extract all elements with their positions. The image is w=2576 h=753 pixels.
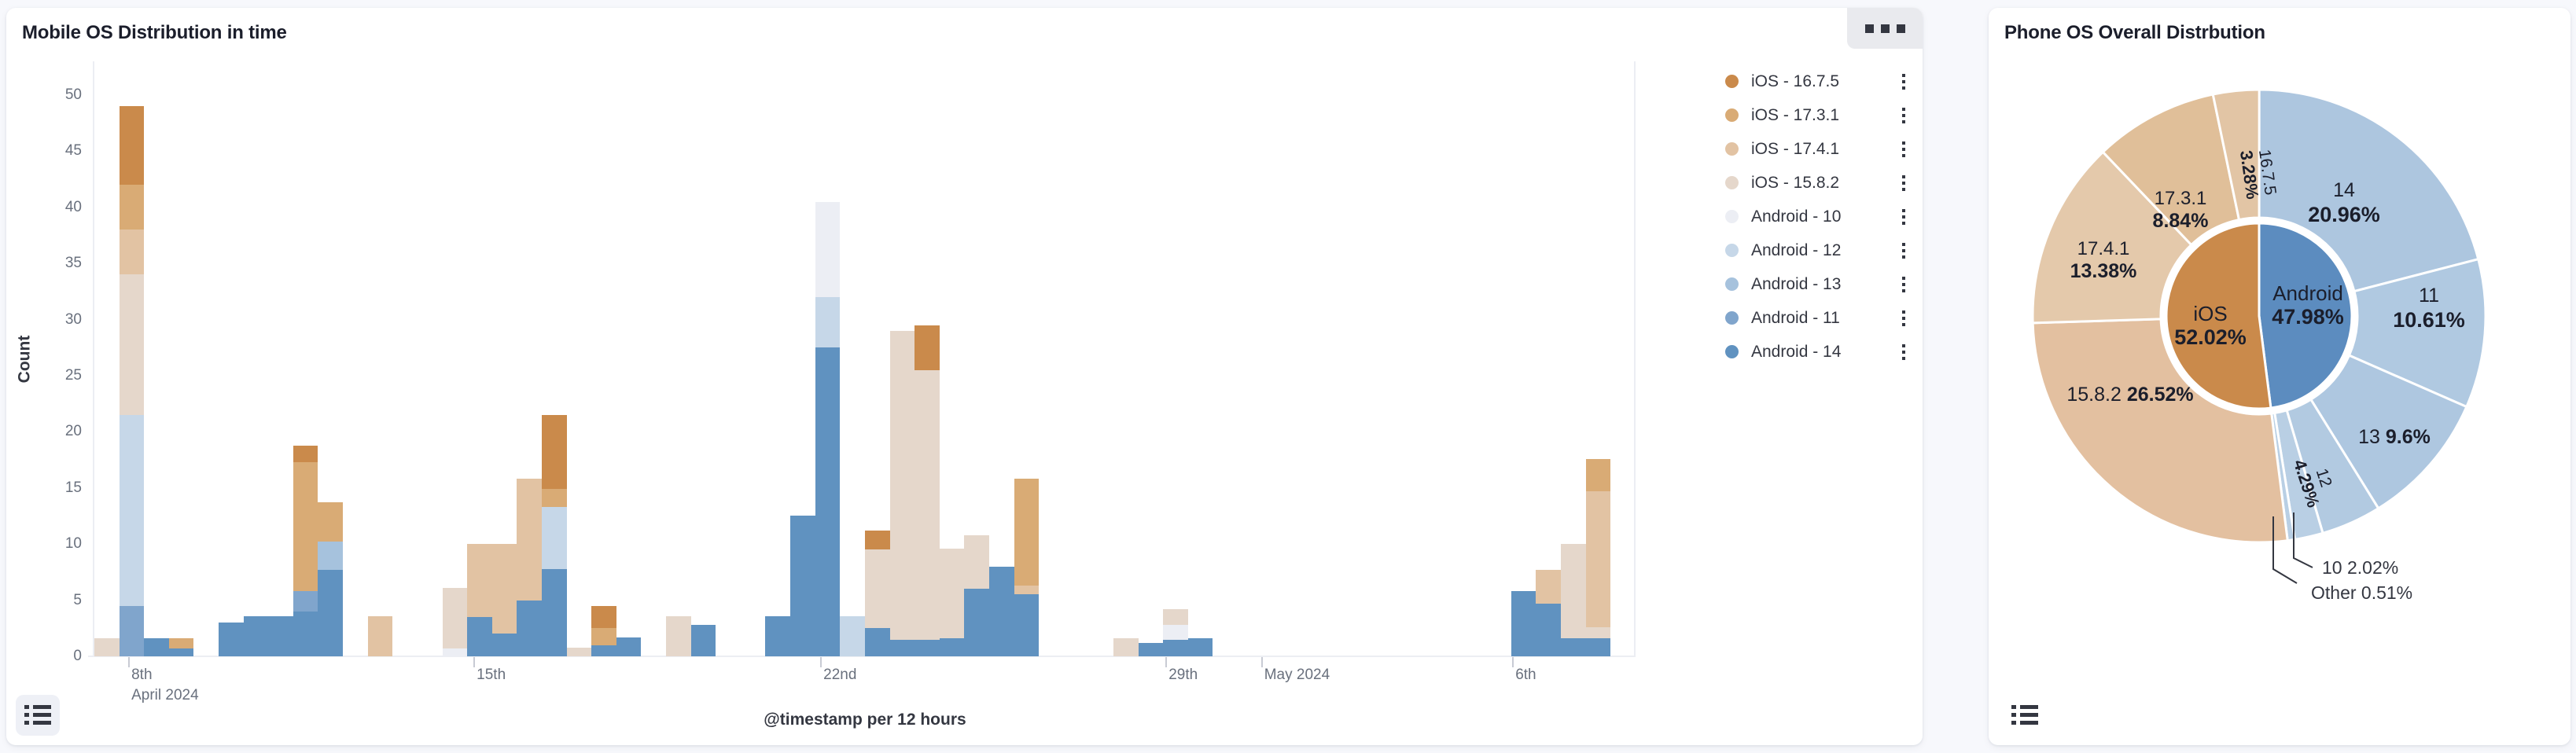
list-icon [24, 705, 51, 725]
stacked-bar[interactable] [1511, 591, 1536, 656]
bar-segment[interactable] [591, 645, 616, 656]
tick-mark [473, 657, 475, 667]
bar-segment[interactable] [591, 606, 616, 629]
svg-text:47.98%: 47.98% [2272, 305, 2344, 329]
bar-segment[interactable] [1536, 570, 1561, 604]
page-title: Phone OS Overall Distrbution [2004, 22, 2265, 44]
stacked-bar[interactable] [666, 616, 691, 656]
legend-toggle-button[interactable] [2003, 695, 2047, 736]
svg-text:13 9.6%: 13 9.6% [2358, 426, 2431, 448]
bar-slot[interactable] [443, 61, 468, 656]
bar-slot[interactable] [1287, 61, 1312, 656]
y-axis-tick: 40 [65, 199, 82, 216]
bar-segment[interactable] [517, 479, 542, 600]
bar-segment[interactable] [120, 230, 145, 274]
tick-mark [1165, 657, 1167, 667]
bar-segment[interactable] [914, 325, 940, 370]
legend-toggle-button[interactable] [16, 695, 60, 736]
callout-label-10: 10 2.02% [2322, 557, 2398, 578]
legend-item-android-10[interactable]: Android - 10 [1725, 200, 1914, 233]
bar-segment[interactable] [517, 601, 542, 656]
list-icon [2011, 705, 2038, 725]
legend-item-android-11[interactable]: Android - 11 [1725, 301, 1914, 335]
bar-segment[interactable] [169, 648, 194, 656]
bar-segment[interactable] [1163, 625, 1188, 640]
legend-color-dot [1725, 345, 1739, 358]
y-axis-tick: 35 [65, 255, 82, 272]
bar-segment[interactable] [1188, 638, 1213, 656]
legend-item-label: Android - 11 [1751, 309, 1840, 328]
bar-segment[interactable] [1536, 604, 1561, 656]
bar-segment[interactable] [120, 185, 145, 230]
stacked-bar[interactable] [1586, 459, 1611, 656]
bar-slot[interactable] [989, 61, 1014, 656]
bar-segment[interactable] [940, 638, 965, 656]
legend-item-label: Android - 14 [1751, 343, 1841, 362]
svg-text:14: 14 [2333, 179, 2355, 201]
legend-item-actions-icon[interactable] [1902, 241, 1909, 260]
bar-segment[interactable] [219, 623, 244, 656]
stacked-bar[interactable] [914, 325, 940, 656]
dot [1897, 24, 1905, 33]
bar-segment[interactable] [293, 591, 318, 612]
sunburst-chart[interactable]: iOS52.02%Android47.98%17.3.18.84%17.4.11… [1989, 49, 2570, 725]
bar-segment[interactable] [1139, 643, 1164, 656]
bar-segment[interactable] [890, 331, 915, 640]
page-title: Mobile OS Distribution in time [22, 22, 287, 44]
legend-item-actions-icon[interactable] [1902, 309, 1909, 328]
bar-segment[interactable] [1014, 594, 1040, 656]
outer-label-17-3-1: 17.3.18.84% [2153, 188, 2209, 232]
x-axis-tick-label: 29th [1168, 667, 1198, 684]
y-axis-tick: 45 [65, 142, 82, 160]
stacked-bar[interactable] [517, 479, 542, 656]
bar-slot[interactable] [1462, 61, 1487, 656]
bar-slot[interactable] [1536, 61, 1561, 656]
legend-color-dot [1725, 210, 1739, 223]
bar-segment[interactable] [268, 616, 293, 656]
legend-item-android-12[interactable]: Android - 12 [1725, 233, 1914, 267]
bar-segment[interactable] [865, 531, 890, 549]
y-axis-tick: 30 [65, 311, 82, 329]
bar-slot[interactable] [392, 61, 418, 656]
panel-phone-os-overall: Phone OS Overall Distrbution iOS52.02%An… [1989, 8, 2570, 745]
stacked-bar[interactable] [890, 331, 915, 656]
bar-slot[interactable] [641, 61, 666, 656]
bar-segment[interactable] [144, 638, 169, 656]
svg-text:Android: Android [2272, 281, 2343, 305]
stacked-bar[interactable] [169, 638, 194, 656]
svg-text:Other 0.51%: Other 0.51% [2311, 582, 2412, 603]
x-axis-tick-label: 6th [1515, 667, 1536, 684]
bar-segment[interactable] [1163, 640, 1188, 656]
bar-slot[interactable] [144, 61, 169, 656]
bar-segment[interactable] [1014, 479, 1040, 586]
svg-text:10 2.02%: 10 2.02% [2322, 557, 2398, 578]
bar-slot[interactable] [790, 61, 815, 656]
bar-segment[interactable] [94, 638, 120, 656]
bar-segment[interactable] [815, 202, 841, 297]
x-axis-tick-label: 15th [477, 667, 506, 684]
bar-slot[interactable] [567, 61, 592, 656]
bar-segment[interactable] [616, 637, 642, 656]
bar-segment[interactable] [1511, 591, 1536, 656]
bar-segment[interactable] [467, 544, 492, 617]
bar-segment[interactable] [120, 106, 145, 185]
bar-slot[interactable] [1511, 61, 1536, 656]
bar-slot[interactable] [840, 61, 865, 656]
bar-segment[interactable] [492, 544, 517, 634]
bar-segment[interactable] [815, 347, 841, 656]
tick-mark [1512, 657, 1514, 667]
bar-slot[interactable] [368, 61, 393, 656]
bar-slot[interactable] [914, 61, 940, 656]
bar-slot[interactable] [293, 61, 318, 656]
tick-mark [1261, 657, 1263, 667]
bar-segment[interactable] [691, 625, 716, 656]
stacked-bar[interactable] [467, 544, 492, 656]
svg-text:15.8.2 26.52%: 15.8.2 26.52% [2066, 384, 2193, 406]
bar-slot[interactable] [716, 61, 741, 656]
legend-item-label: Android - 13 [1751, 275, 1841, 294]
legend-item-actions-icon[interactable] [1902, 343, 1909, 362]
legend-item-actions-icon[interactable] [1902, 72, 1909, 91]
bar-segment[interactable] [914, 640, 940, 656]
bar-segment[interactable] [120, 415, 145, 606]
sunburst-svg[interactable]: iOS52.02%Android47.98%17.3.18.84%17.4.11… [1989, 49, 2570, 725]
bar-segment[interactable] [318, 570, 343, 656]
legend-item-label: Android - 12 [1751, 241, 1841, 260]
bar-segment[interactable] [244, 616, 269, 656]
bar-slot[interactable] [1586, 61, 1611, 656]
bar-slot[interactable] [418, 61, 443, 656]
tick-mark [128, 657, 130, 667]
chart-legend[interactable]: iOS - 16.7.5iOS - 17.3.1iOS - 17.4.1iOS … [1725, 64, 1914, 369]
stacked-bar[interactable] [1113, 638, 1139, 656]
legend-item-label: iOS - 17.3.1 [1751, 106, 1839, 125]
svg-text:17.3.1: 17.3.1 [2155, 188, 2207, 209]
bar-slot[interactable] [1486, 61, 1511, 656]
bar-segment[interactable] [443, 648, 468, 656]
legend-item-actions-icon[interactable] [1902, 208, 1909, 226]
stacked-bar[interactable] [268, 616, 293, 656]
bar-slot[interactable] [1064, 61, 1089, 656]
x-axis-title: @timestamp per 12 hours [94, 711, 1636, 729]
bar-slot[interactable] [1188, 61, 1213, 656]
stacked-bar[interactable] [542, 415, 567, 656]
legend-color-dot [1725, 311, 1739, 325]
bar-segment[interactable] [542, 569, 567, 656]
y-axis-tick: 0 [73, 648, 82, 665]
dot [1881, 24, 1890, 33]
svg-text:10.61%: 10.61% [2393, 308, 2465, 332]
svg-text:20.96%: 20.96% [2308, 203, 2380, 226]
bar-slot[interactable] [343, 61, 368, 656]
bar-slot[interactable] [1610, 61, 1636, 656]
bar-slot[interactable] [1387, 61, 1412, 656]
stacked-bar[interactable] [790, 516, 815, 656]
three-dots-icon[interactable] [1847, 8, 1923, 49]
legend-color-dot [1725, 142, 1739, 156]
bar-slot[interactable] [666, 61, 691, 656]
legend-color-dot [1725, 176, 1739, 189]
bar-slot[interactable] [1362, 61, 1387, 656]
svg-text:11: 11 [2419, 285, 2439, 307]
bar-slot[interactable] [120, 61, 145, 656]
stacked-bar[interactable] [989, 567, 1014, 656]
bar-chart-plot-area[interactable] [94, 61, 1636, 656]
stacked-bar[interactable] [219, 623, 244, 656]
bar-segment[interactable] [293, 446, 318, 462]
outer-label-13: 13 9.6% [2358, 426, 2431, 448]
svg-text:iOS: iOS [2193, 302, 2227, 325]
bar-slot[interactable] [940, 61, 965, 656]
y-axis-tick: 25 [65, 367, 82, 384]
inner-label-android: Android47.98% [2272, 281, 2344, 329]
bar-segment[interactable] [318, 542, 343, 570]
stacked-bar[interactable] [144, 638, 169, 656]
bar-slot[interactable] [94, 61, 120, 656]
bar-segment[interactable] [1113, 638, 1139, 656]
bar-segment[interactable] [790, 516, 815, 656]
bar-slot[interactable] [318, 61, 343, 656]
bar-segment[interactable] [765, 616, 790, 656]
legend-item-actions-icon[interactable] [1902, 140, 1909, 159]
y-axis-tick: 20 [65, 423, 82, 440]
stacked-bar[interactable] [691, 625, 716, 656]
bar-segment[interactable] [1586, 627, 1611, 638]
bar-segment[interactable] [815, 297, 841, 347]
bar-segment[interactable] [1561, 544, 1586, 638]
bar-slot[interactable] [1039, 61, 1064, 656]
y-axis-tick: 5 [73, 592, 82, 609]
stacked-bar[interactable] [293, 446, 318, 657]
stacked-bar[interactable] [964, 535, 989, 656]
outer-label-16-7-5: 16.7.53.28% [2236, 147, 2280, 200]
bar-segment[interactable] [591, 628, 616, 645]
bar-slot[interactable] [268, 61, 293, 656]
bar-segment[interactable] [542, 507, 567, 569]
stacked-bar[interactable] [1163, 609, 1188, 656]
stacked-bar[interactable] [1561, 544, 1586, 656]
legend-item-label: iOS - 15.8.2 [1751, 174, 1839, 193]
svg-text:13.38%: 13.38% [2070, 260, 2137, 282]
bar-segment[interactable] [542, 489, 567, 507]
stacked-bar[interactable] [1188, 638, 1213, 656]
bar-segment[interactable] [1163, 609, 1188, 625]
bar-segment[interactable] [467, 617, 492, 656]
bar-slot[interactable] [1238, 61, 1263, 656]
stacked-bar[interactable] [865, 531, 890, 656]
stacked-bar[interactable] [120, 106, 145, 656]
bar-slot[interactable] [517, 61, 542, 656]
bar-segment[interactable] [890, 640, 915, 656]
dot [1865, 24, 1874, 33]
svg-text:17.4.1: 17.4.1 [2077, 238, 2130, 259]
stacked-bar[interactable] [443, 588, 468, 656]
x-axis-tick-label: 22nd [823, 667, 856, 684]
stacked-bar[interactable] [940, 549, 965, 656]
bar-segment[interactable] [840, 616, 865, 656]
bar-segment[interactable] [120, 606, 145, 656]
bar-segment[interactable] [914, 370, 940, 640]
bar-slot[interactable] [219, 61, 244, 656]
y-axis: 05101520253035404550 [6, 61, 91, 656]
stacked-bar[interactable] [368, 616, 393, 656]
legend-item-actions-icon[interactable] [1902, 275, 1909, 294]
outer-label-17-4-1: 17.4.113.38% [2070, 238, 2137, 282]
stacked-bar[interactable] [591, 606, 616, 656]
bar-segment[interactable] [1586, 459, 1611, 491]
bar-slot[interactable] [1014, 61, 1040, 656]
bar-slot[interactable] [169, 61, 194, 656]
bar-slot[interactable] [1263, 61, 1288, 656]
bar-segment[interactable] [666, 616, 691, 656]
stacked-bar[interactable] [765, 616, 790, 656]
bar-segment[interactable] [492, 634, 517, 656]
bar-slot[interactable] [467, 61, 492, 656]
legend-item-actions-icon[interactable] [1902, 174, 1909, 193]
bar-segment[interactable] [368, 616, 393, 656]
bar-segment[interactable] [989, 567, 1014, 656]
x-axis-tick-label: 8th [131, 667, 152, 684]
stacked-bar[interactable] [244, 616, 269, 656]
legend-item-ios-17-3-1[interactable]: iOS - 17.3.1 [1725, 98, 1914, 132]
bar-slot[interactable] [1411, 61, 1437, 656]
legend-item-android-13[interactable]: Android - 13 [1725, 267, 1914, 301]
callout-label-other: Other 0.51% [2311, 582, 2412, 603]
legend-color-dot [1725, 277, 1739, 291]
legend-item-ios-17-4-1[interactable]: iOS - 17.4.1 [1725, 132, 1914, 166]
panel-mobile-os-distribution: Mobile OS Distribution in time Count 051… [6, 8, 1923, 745]
bar-slot[interactable] [1213, 61, 1238, 656]
bar-slot[interactable] [1437, 61, 1462, 656]
bar-segment[interactable] [964, 589, 989, 656]
bar-slot[interactable] [1337, 61, 1362, 656]
svg-text:8.84%: 8.84% [2153, 210, 2209, 232]
bar-slot[interactable] [691, 61, 716, 656]
bar-segment[interactable] [120, 274, 145, 415]
legend-color-dot [1725, 75, 1739, 88]
stacked-bar[interactable] [1536, 570, 1561, 656]
bar-segment[interactable] [293, 612, 318, 656]
bar-segment[interactable] [293, 462, 318, 591]
bar-slot[interactable] [1561, 61, 1586, 656]
bar-segment[interactable] [1586, 638, 1611, 656]
bar-slot[interactable] [765, 61, 790, 656]
bar-slot[interactable] [193, 61, 219, 656]
x-axis-tick-sublabel: April 2024 [131, 687, 199, 704]
bar-slot[interactable] [616, 61, 642, 656]
stacked-bar[interactable] [318, 502, 343, 656]
dashboard-root: Mobile OS Distribution in time Count 051… [0, 0, 2576, 753]
bar-segment[interactable] [169, 638, 194, 648]
y-axis-tick: 10 [65, 535, 82, 553]
legend-item-label: iOS - 16.7.5 [1751, 72, 1839, 91]
svg-text:52.02%: 52.02% [2174, 325, 2247, 349]
bar-segment[interactable] [1586, 491, 1611, 627]
stacked-bar[interactable] [567, 648, 592, 656]
bar-slot[interactable] [865, 61, 890, 656]
y-axis-tick: 50 [65, 86, 82, 104]
bar-slot[interactable] [890, 61, 915, 656]
legend-color-dot [1725, 108, 1739, 122]
bar-segment[interactable] [318, 502, 343, 542]
bar-segment[interactable] [567, 648, 592, 656]
stacked-bar[interactable] [815, 202, 841, 656]
bar-slot[interactable] [1088, 61, 1113, 656]
stacked-bar[interactable] [840, 616, 865, 656]
bar-slot[interactable] [815, 61, 841, 656]
legend-item-label: iOS - 17.4.1 [1751, 140, 1839, 159]
bar-segment[interactable] [865, 549, 890, 628]
stacked-bar[interactable] [616, 637, 642, 656]
bar-segment[interactable] [964, 535, 989, 590]
outer-label-15-8-2: 15.8.2 26.52% [2066, 384, 2193, 406]
tick-mark [820, 657, 822, 667]
bar-slot[interactable] [1139, 61, 1164, 656]
bar-slot[interactable] [492, 61, 517, 656]
bar-segment[interactable] [1561, 638, 1586, 656]
bar-slot[interactable] [542, 61, 567, 656]
bar-slot[interactable] [741, 61, 766, 656]
stacked-bar[interactable] [492, 544, 517, 656]
legend-item-actions-icon[interactable] [1902, 106, 1909, 125]
bar-slot[interactable] [964, 61, 989, 656]
stacked-bar[interactable] [1014, 479, 1040, 656]
legend-item-ios-16-7-5[interactable]: iOS - 16.7.5 [1725, 64, 1914, 98]
bar-slot[interactable] [1113, 61, 1139, 656]
bar-slot[interactable] [1163, 61, 1188, 656]
legend-item-ios-15-8-2[interactable]: iOS - 15.8.2 [1725, 166, 1914, 200]
bar-segment[interactable] [865, 628, 890, 656]
bar-segment[interactable] [1014, 586, 1040, 594]
x-axis-tick-sublabel: May 2024 [1264, 667, 1330, 684]
bar-slot[interactable] [591, 61, 616, 656]
bar-segment[interactable] [940, 549, 965, 638]
stacked-bar[interactable] [94, 638, 120, 656]
legend-color-dot [1725, 244, 1739, 257]
legend-item-label: Android - 10 [1751, 208, 1841, 226]
legend-item-android-14[interactable]: Android - 14 [1725, 335, 1914, 369]
bar-segment[interactable] [443, 588, 468, 648]
bar-slot[interactable] [1312, 61, 1338, 656]
bar-segment[interactable] [542, 415, 567, 489]
x-axis: 8thApril 202415th22nd29thMay 20246th [94, 657, 1636, 712]
y-axis-tick: 15 [65, 479, 82, 497]
stacked-bar[interactable] [1139, 643, 1164, 656]
bar-slot[interactable] [244, 61, 269, 656]
